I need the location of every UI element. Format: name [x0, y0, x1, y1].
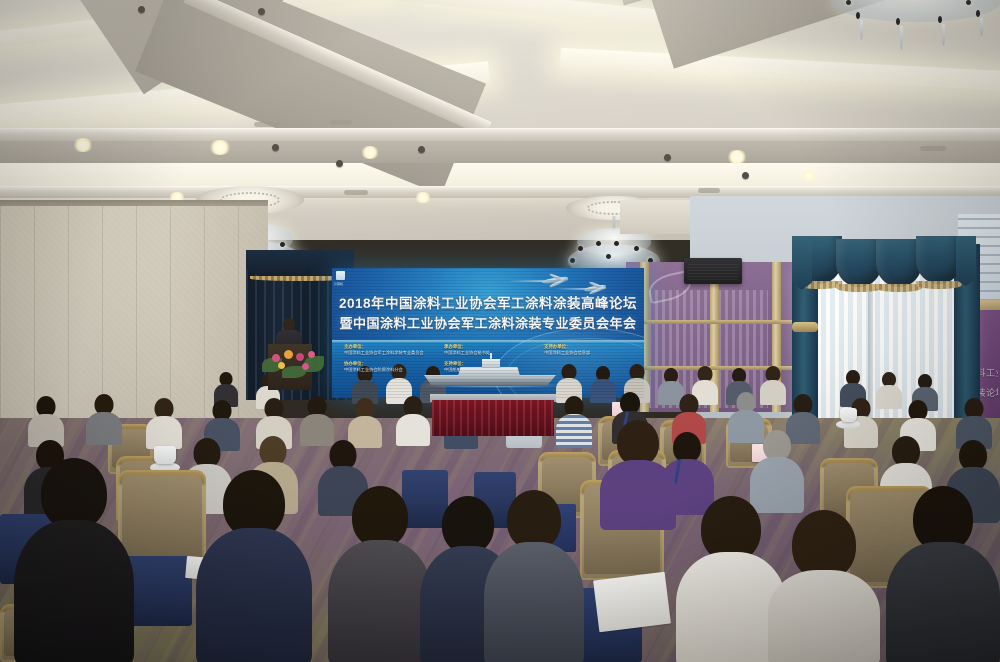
wall-rail	[626, 320, 806, 324]
attendee-torso	[196, 528, 312, 662]
chandelier-candle	[578, 246, 583, 251]
desktop-icon-label: 计算机	[334, 282, 343, 286]
sprinkler-head	[336, 160, 343, 167]
organizer-column-right: 支持办单位： 中国涂料工业协会信息部	[544, 344, 634, 361]
ship-mast	[490, 353, 492, 360]
chair-seat-cushion	[126, 556, 192, 626]
attendee-head	[352, 486, 408, 548]
air-vent	[330, 120, 352, 125]
attendee	[396, 396, 430, 444]
organizer-body: 中国涂料工业协会秘书处	[444, 350, 534, 356]
air-vent	[920, 146, 946, 151]
downlight	[208, 140, 232, 155]
attendee-torso	[86, 412, 122, 445]
warship-graphic	[424, 358, 556, 386]
valance-swag	[916, 236, 962, 284]
floral-arrangement	[262, 348, 324, 378]
ship-bridge-tower	[482, 359, 500, 368]
valance-jabot	[956, 236, 976, 286]
flower-blossom	[302, 363, 309, 370]
organizer-block: 主办单位： 中国涂料工业协会军工涂料涂装专业委员会	[344, 344, 434, 356]
attendee-foreground	[768, 510, 880, 662]
attendee	[300, 396, 334, 444]
attendee-foreground	[484, 490, 584, 662]
attendee-torso	[484, 542, 584, 662]
attendee-torso	[328, 540, 432, 662]
attendee-torso	[556, 414, 592, 448]
coffee-cup	[840, 408, 857, 422]
chair-backrest	[122, 475, 202, 568]
chandelier-right	[826, 0, 1000, 72]
organizer-body: 中国涂料工业协会防腐涂料分会	[344, 367, 434, 373]
chandelier-candle	[280, 242, 285, 247]
downlight	[800, 170, 818, 182]
ship-hull	[424, 375, 556, 386]
chandelier-crystal-drop	[942, 24, 945, 46]
chandelier-crystal-drop	[980, 18, 983, 36]
screen-title-line-2: 暨中国涂料工业协会军工涂料涂装专业委员会年会	[332, 314, 644, 334]
ceiling-speaker	[684, 258, 742, 284]
attendee	[86, 394, 122, 444]
attendee	[348, 398, 382, 446]
crown-molding	[0, 128, 1000, 142]
chandelier-candle	[966, 0, 971, 5]
air-vent	[254, 122, 280, 127]
sprinkler-head	[138, 6, 145, 13]
attendee-torso	[14, 520, 134, 662]
attendee-head	[507, 490, 561, 550]
downlight	[726, 150, 748, 164]
chandelier-candle	[634, 246, 639, 251]
coffee-cup	[154, 446, 176, 464]
sprinkler-head	[742, 172, 749, 179]
sprinkler-head	[664, 154, 671, 161]
attendee	[556, 396, 592, 446]
chandelier-crystal-drop	[860, 20, 863, 40]
organizer-block: 承办单位： 中国涂料工业协会秘书处	[444, 344, 534, 356]
sprinkler-head	[272, 144, 279, 151]
attendee	[876, 372, 902, 408]
organizer-block: 支持办单位： 中国涂料工业协会信息部	[544, 344, 634, 356]
chandelier-candle	[846, 0, 851, 5]
flower-blossom	[284, 350, 293, 359]
attendee-torso	[600, 460, 676, 530]
conference-hall-photo: 中国涂料工业 军工涂装论坛 2018 计算机	[0, 0, 1000, 662]
downlight	[414, 192, 432, 203]
window-valance	[796, 236, 974, 294]
air-vent	[344, 190, 368, 195]
chandelier-candle	[570, 258, 575, 263]
organizer-block: 协办单位： 中国涂料工业协会防腐涂料分会	[344, 361, 434, 373]
chandelier-candle	[596, 241, 601, 246]
attendee-torso	[876, 385, 902, 409]
cove-light-strip	[0, 160, 1000, 186]
chandelier-candle	[614, 241, 619, 246]
organizer-body: 中国涂料工业协会军工涂料涂装专业委员会	[344, 350, 434, 356]
screen-title-block: 2018年中国涂料工业协会军工涂料涂装高峰论坛 暨中国涂料工业协会军工涂料涂装专…	[332, 294, 644, 334]
attendee-foreground	[196, 470, 312, 662]
flower-blossom	[296, 353, 304, 361]
head-table-skirt	[432, 400, 554, 436]
attendee	[146, 398, 182, 448]
chandelier-crystal	[896, 18, 900, 25]
organizer-column-left: 主办单位： 中国涂料工业协会军工涂料涂装专业委员会 协办单位： 中国涂料工业协会…	[344, 344, 434, 378]
attendee-torso	[768, 570, 880, 662]
attendee-foreground	[14, 458, 134, 662]
chandelier-crystal	[976, 10, 980, 17]
flower-blossom	[278, 362, 285, 369]
attendee-foreground	[886, 486, 1000, 662]
attendee	[28, 396, 64, 446]
sprinkler-head	[258, 8, 265, 15]
flower-blossom	[272, 354, 280, 362]
valance-jabot	[792, 236, 812, 290]
chandelier-crystal	[938, 16, 942, 23]
air-vent	[698, 188, 720, 193]
screen-title-line-1: 2018年中国涂料工业协会军工涂料涂装高峰论坛	[332, 294, 644, 314]
organizer-body: 中国涂料工业协会信息部	[544, 350, 634, 356]
curtain-tieback	[792, 322, 818, 332]
sprinkler-head	[418, 146, 425, 153]
handout-papers	[593, 572, 671, 632]
attendee-torso	[886, 542, 1000, 662]
desktop-computer-icon[interactable]	[336, 271, 345, 280]
attendee-torso	[146, 416, 182, 449]
ceiling-soffit	[0, 141, 1000, 163]
attendee-foreground	[600, 420, 676, 524]
chandelier-crystal-drop	[900, 26, 903, 50]
chandelier-crystal	[856, 12, 860, 19]
downlight	[360, 146, 380, 159]
ship-superstructure	[458, 367, 520, 376]
attendee-torso	[396, 414, 430, 446]
flower-blossom	[308, 351, 315, 358]
downlight	[72, 138, 94, 152]
chandelier-candle	[606, 254, 611, 259]
attendee-foreground	[328, 486, 432, 662]
